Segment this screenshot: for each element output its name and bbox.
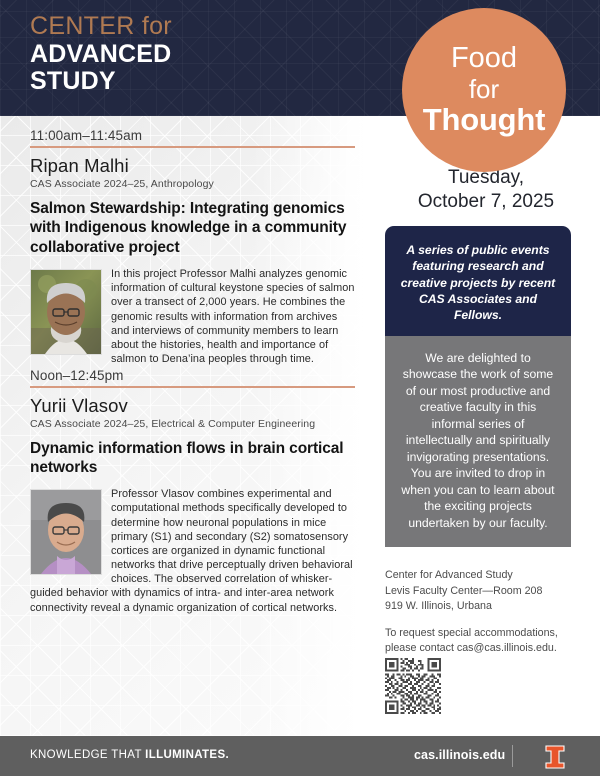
yurii-vlasov-headshot: [30, 489, 102, 575]
venue-line-2: Levis Faculty Center—Room 208: [385, 584, 585, 600]
badge-line-1: Food: [451, 43, 517, 74]
logo-line-3: STUDY: [30, 68, 172, 95]
food-for-thought-badge: Food for Thought: [402, 8, 566, 172]
footer-tagline: KNOWLEDGE THAT ILLUMINATES.: [30, 749, 229, 761]
sidebar-column: Tuesday, October 7, 2025 A series of pub…: [372, 116, 600, 736]
talk-abstract-wrap: Professor Vlasov combines experimental a…: [30, 487, 355, 615]
poster-root: CENTER for ADVANCED STUDY Food for Thoug…: [0, 0, 600, 776]
talk-title: Salmon Stewardship: Integrating genomics…: [30, 199, 355, 258]
badge-line-2: for: [469, 75, 499, 103]
divider-rule: [30, 146, 355, 148]
block-i-logo-icon: [544, 745, 566, 769]
accommodations-note: To request special accommodations, pleas…: [385, 626, 585, 657]
ripan-malhi-headshot: [30, 269, 102, 355]
footer-tagline-bold: ILLUMINATES.: [145, 749, 229, 761]
talk-speaker: Ripan Malhi: [30, 155, 355, 177]
talk-title: Dynamic information flows in brain corti…: [30, 439, 355, 479]
talk-affiliation: CAS Associate 2024–25, Electrical & Comp…: [30, 418, 355, 430]
divider-rule: [30, 386, 355, 388]
footer-tagline-light: KNOWLEDGE THAT: [30, 749, 145, 761]
talk-affiliation: CAS Associate 2024–25, Anthropology: [30, 178, 355, 190]
talk-abstract-wrap: In this project Professor Malhi analyzes…: [30, 267, 355, 366]
logo-line-2: ADVANCED: [30, 41, 172, 68]
venue-info: Center for Advanced Study Levis Faculty …: [385, 568, 585, 657]
event-date-line-2: October 7, 2025: [372, 190, 600, 214]
qr-code[interactable]: [385, 658, 441, 714]
series-blurb-box: A series of public events featuring rese…: [385, 226, 571, 338]
badge-line-3: Thought: [423, 103, 546, 137]
footer-url[interactable]: cas.illinois.edu: [414, 748, 505, 762]
cas-logo: CENTER for ADVANCED STUDY: [30, 14, 172, 95]
venue-line-1: Center for Advanced Study: [385, 568, 585, 584]
footer-bar: KNOWLEDGE THAT ILLUMINATES. cas.illinois…: [0, 736, 600, 776]
talks-column: 11:00am–11:45am Ripan Malhi CAS Associat…: [0, 116, 372, 736]
venue-line-3: 919 W. Illinois, Urbana: [385, 599, 585, 615]
logo-line-1: CENTER for: [30, 14, 172, 39]
event-date: Tuesday, October 7, 2025: [372, 166, 600, 214]
talk-time: 11:00am–11:45am: [30, 128, 355, 143]
talk-speaker: Yurii Vlasov: [30, 395, 355, 417]
talk-entry: 11:00am–11:45am Ripan Malhi CAS Associat…: [30, 128, 355, 366]
talk-entry: Noon–12:45pm Yurii Vlasov CAS Associate …: [30, 368, 355, 615]
talk-time: Noon–12:45pm: [30, 368, 355, 383]
welcome-blurb-box: We are delighted to showcase the work of…: [385, 336, 571, 547]
footer-divider: [512, 745, 513, 767]
body-area: 11:00am–11:45am Ripan Malhi CAS Associat…: [0, 116, 600, 736]
